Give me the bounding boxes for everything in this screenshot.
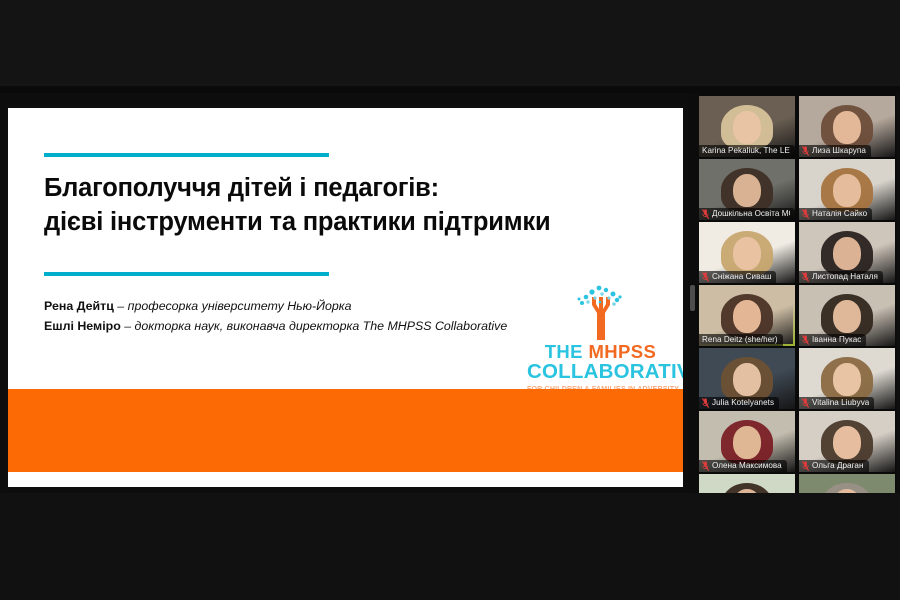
letterbox-top [0,0,900,86]
participant-name: Листопад Наталя [812,272,878,282]
participant-face [733,237,761,270]
participant-name-bar: Лиза Шкарупа [799,145,871,157]
logo-the: THE [545,341,583,362]
participant-name: Karina Pekaliuk, The LEGO... [702,146,790,156]
presenter-2-name: Ешлі Неміро [44,319,121,333]
participant-name: Vitalina Liubyva [812,398,869,408]
participant-name: Rena Deitz (she/her) [702,335,778,345]
presenter-list: Рена Дейтц – професорка університету Нью… [44,296,564,336]
slide-title-line-1: Благополуччя дітей і педагогів: [44,172,644,206]
mic-muted-icon [702,209,709,219]
mic-muted-icon [802,209,809,219]
participant-face [833,300,861,333]
participant-name-bar: Rena Deitz (she/her) [699,334,783,346]
participant-name: Ольга Драган [812,461,864,471]
participant-face [733,111,761,144]
participant-name-bar: Karina Pekaliuk, The LEGO... [699,145,795,157]
presenter-1-name: Рена Дейтц [44,299,114,313]
participant-name: Дошкільна Освіта МО... [712,209,790,219]
slide-title-line-2: дієві інструменти та практики підтримки [44,206,644,240]
presenter-2: Ешлі Неміро – докторка наук, виконавча д… [44,316,564,336]
letterbox-bottom [0,493,900,600]
participant-tile[interactable]: Vitalina Liubyva [799,348,895,409]
mhpss-collaborative-logo: THE MHPSS COLLABORATIVE FOR CHILDREN & F… [527,283,674,393]
participant-tile[interactable]: Rena Deitz (she/her) [699,285,795,346]
mic-muted-icon [702,398,709,408]
participant-name: Лиза Шкарупа [812,146,866,156]
mic-muted-icon [802,335,809,345]
participant-tile[interactable]: Сніжана Сиваш [699,222,795,283]
gallery-scrollbar-thumb[interactable] [690,285,695,311]
participant-gallery[interactable]: Karina Pekaliuk, The LEGO...Лиза Шкарупа… [699,93,896,493]
presenter-1-role: – професорка університету Нью-Йорка [114,299,352,313]
mic-muted-icon [702,461,709,471]
participant-face [833,237,861,270]
participant-tile[interactable]: Лиза Шкарупа [799,96,895,157]
slide-rule-bottom [44,272,329,276]
participant-tile[interactable]: Олена Максимова [699,411,795,472]
participant-tile[interactable]: Дошкільна Освіта МО... [699,159,795,220]
logo-line-2: COLLABORATIVE [527,362,674,383]
participant-tile[interactable]: Тетяна Панченко [799,474,895,493]
participant-tile[interactable]: Наталія Сайко [799,159,895,220]
mic-muted-icon [802,461,809,471]
participant-name-bar: Наталія Сайко [799,208,872,220]
participant-tile[interactable]: Julia Kotelyanets [699,348,795,409]
shared-screen-pane[interactable]: Благополуччя дітей і педагогів: дієві ін… [4,104,688,490]
participant-name: Іванна Пукас [812,335,861,345]
participant-name: Julia Kotelyanets [712,398,774,408]
participant-name-bar: Julia Kotelyanets [699,397,779,409]
participant-face [833,111,861,144]
mic-muted-icon [802,146,809,156]
slide-orange-band [8,389,683,472]
participant-tile[interactable]: Листопад Наталя [799,222,895,283]
participant-face [733,174,761,207]
logo-mhpss: MHPSS [588,341,656,362]
participant-name: Сніжана Сиваш [712,272,771,282]
participant-tile[interactable]: Іванна Пукас [799,285,895,346]
participant-name: Олена Максимова [712,461,782,471]
zoom-meeting-window: Благополуччя дітей і педагогів: дієві ін… [0,0,900,600]
presenter-1: Рена Дейтц – професорка університету Нью… [44,296,564,316]
slide-title: Благополуччя дітей і педагогів: дієві ін… [44,172,644,239]
participant-name-bar: Сніжана Сиваш [699,271,776,283]
participant-face [833,426,861,459]
slide-rule-top [44,153,329,157]
presentation-slide: Благополуччя дітей і педагогів: дієві ін… [8,108,683,487]
participant-tile[interactable]: Ірина Апрелєва [699,474,795,493]
tree-icon [527,283,674,343]
participant-tile[interactable]: Karina Pekaliuk, The LEGO... [699,96,795,157]
participant-name-bar: Олена Максимова [699,460,787,472]
participant-face [733,426,761,459]
gallery-scrollbar[interactable] [688,93,698,493]
participant-name-bar: Дошкільна Освіта МО... [699,208,795,220]
participant-name-bar: Листопад Наталя [799,271,883,283]
mic-muted-icon [802,272,809,282]
participant-face [833,363,861,396]
mic-muted-icon [802,398,809,408]
presenter-2-role: – докторка наук, виконавча директорка Th… [121,319,508,333]
participant-tile[interactable]: Ольга Драган [799,411,895,472]
participant-face [733,363,761,396]
mic-muted-icon [702,272,709,282]
participant-name-bar: Іванна Пукас [799,334,866,346]
participant-face [733,300,761,333]
participant-name-bar: Vitalina Liubyva [799,397,874,409]
participant-face [833,174,861,207]
participant-name-bar: Ольга Драган [799,460,869,472]
letterbox-divider [0,86,900,93]
participant-name: Наталія Сайко [812,209,867,219]
